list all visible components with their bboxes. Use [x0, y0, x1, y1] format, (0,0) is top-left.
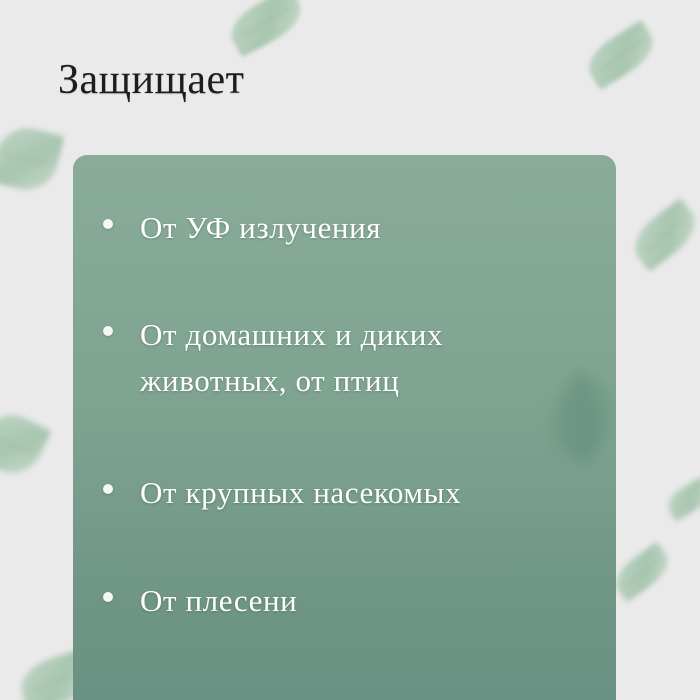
leaf-icon-mid-right	[625, 198, 700, 273]
leaf-vein	[4, 153, 50, 164]
leaf-blade	[580, 20, 661, 90]
list-item: От крупных насекомых	[103, 470, 593, 516]
leaf-blade	[0, 121, 65, 196]
leaf-vein	[241, 7, 292, 37]
leaf-vein	[0, 434, 33, 454]
bullet-icon	[103, 484, 113, 494]
leaf-blade	[663, 476, 700, 522]
benefits-card: От УФ излучения От домашних и диких живо…	[73, 155, 616, 700]
leaf-icon-top-right	[580, 20, 661, 90]
leaf-icon-left-mid	[0, 405, 52, 483]
bullet-icon	[103, 326, 113, 336]
slide-canvas: Защищает От УФ излучения От домашних и д…	[0, 0, 700, 700]
list-item-label: От крупных насекомых	[140, 470, 593, 516]
list-item-label: От плесени	[140, 578, 593, 624]
leaf-icon-right-low	[608, 541, 675, 602]
list-item-label: От домашних и диких животных, от птиц	[140, 312, 593, 404]
list-item: От плесени	[103, 578, 593, 624]
leaf-icon-left-upper	[0, 121, 65, 196]
leaf-vein	[644, 217, 686, 252]
bullet-icon	[103, 219, 113, 229]
leaf-blade	[0, 405, 52, 483]
leaf-vein	[624, 557, 661, 586]
list-item: От УФ излучения	[103, 205, 593, 251]
leaf-blade	[625, 198, 700, 273]
leaf-blade	[608, 541, 675, 602]
list-item-label: От УФ излучения	[140, 205, 593, 251]
bullet-icon	[103, 592, 113, 602]
page-title: Защищает	[58, 57, 244, 103]
leaf-icon-top-center	[223, 0, 309, 57]
benefits-list: От УФ излучения От домашних и диких живо…	[73, 155, 616, 700]
list-item: От домашних и диких животных, от птиц	[103, 312, 593, 404]
leaf-vein	[598, 39, 644, 71]
leaf-icon-right-far	[663, 476, 700, 522]
leaf-blade	[223, 0, 309, 57]
